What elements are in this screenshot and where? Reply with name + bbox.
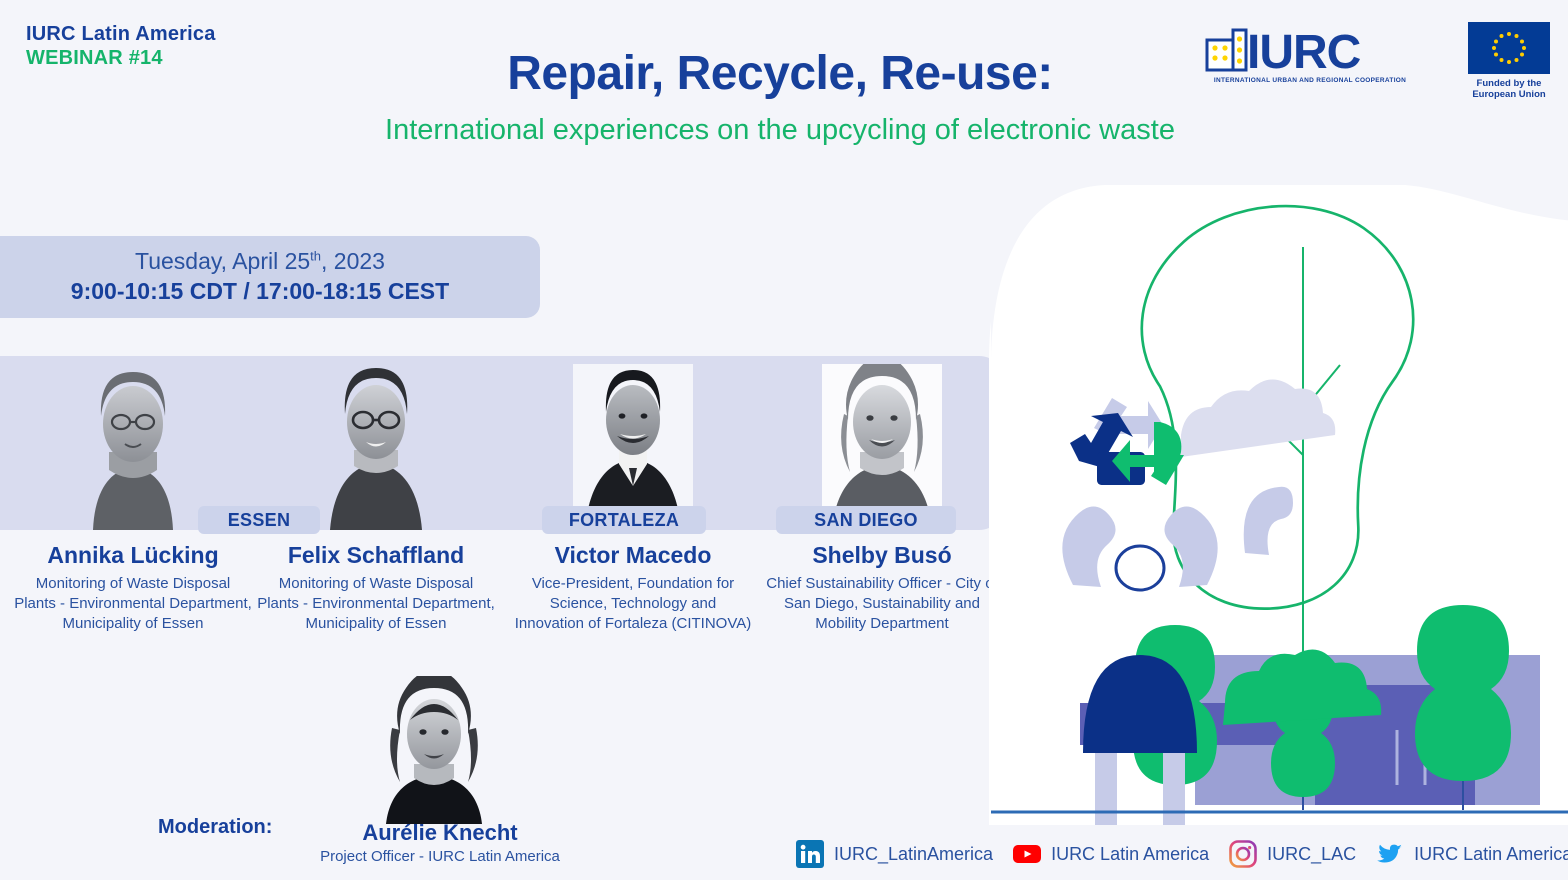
moderator-photo [370, 676, 498, 824]
city-badge-fortaleza: FORTALEZA [542, 506, 706, 534]
speaker-name: Shelby Busó [757, 542, 1007, 570]
moderation-block: Moderation: Aurélie Knecht Project Offic… [120, 676, 680, 876]
speaker-photo [316, 364, 436, 530]
speaker-name: Felix Schaffland [251, 542, 501, 570]
header-left-block: IURC Latin America WEBINAR #14 [26, 22, 216, 71]
moderation-label: Moderation: [158, 816, 272, 839]
eu-funding-caption: Funded by the European Union [1468, 78, 1550, 101]
webinar-number: WEBINAR #14 [26, 46, 216, 70]
webinar-times: 9:00-10:15 CDT / 17:00-18:15 CEST [71, 277, 449, 307]
page-subtitle: International experiences on the upcycli… [300, 113, 1260, 148]
social-handle: IURC Latin America [1414, 844, 1568, 865]
youtube-icon[interactable] [1013, 840, 1041, 868]
date-year: , 2023 [321, 248, 385, 274]
page-title: Repair, Recycle, Re-use: [300, 48, 1260, 101]
date-ordinal-suffix: th [310, 248, 321, 263]
social-link-instagram[interactable]: IURC_LAC [1229, 840, 1356, 868]
city-badge-san-diego: SAN DIEGO [776, 506, 956, 534]
iurc-logo: IURC INTERNATIONAL URBAN AND REGIONAL CO… [1205, 22, 1415, 84]
social-link-youtube[interactable]: IURC Latin America [1013, 840, 1209, 868]
speaker-role: Monitoring of Waste Disposal Plants - En… [8, 574, 258, 634]
date-text: Tuesday, April 25 [135, 248, 310, 274]
eu-caption-line-1: Funded by the [1468, 78, 1550, 89]
date-time-pill: Tuesday, April 25th, 2023 9:00-10:15 CDT… [0, 236, 540, 318]
moderator-role: Project Officer - IURC Latin America [280, 848, 600, 865]
city-badge-essen: ESSEN [198, 506, 320, 534]
social-link-linkedin[interactable]: IURC_LatinAmerica [796, 840, 993, 868]
social-link-twitter[interactable]: IURC Latin America [1376, 840, 1568, 868]
social-handle: IURC Latin America [1051, 844, 1209, 865]
speaker-photo [73, 364, 193, 530]
speaker-role: Vice-President, Foundation for Science, … [508, 574, 758, 634]
speaker-role: Chief Sustainability Officer - City of S… [757, 574, 1007, 634]
org-name: IURC Latin America [26, 22, 216, 46]
linkedin-icon[interactable] [796, 840, 824, 868]
moderator-name: Aurélie Knecht [300, 820, 580, 846]
social-handle: IURC_LAC [1267, 844, 1356, 865]
speaker-name: Victor Macedo [508, 542, 758, 570]
speaker-role: Monitoring of Waste Disposal Plants - En… [251, 574, 501, 634]
eu-flag-icon [1468, 22, 1550, 74]
webinar-date: Tuesday, April 25th, 2023 [135, 247, 385, 276]
social-links-bar: IURC_LatinAmerica IURC Latin America IUR… [796, 836, 1568, 872]
recycling-illustration [985, 185, 1568, 825]
svg-text:IURC: IURC [1247, 26, 1361, 74]
person-head [1116, 546, 1164, 590]
speaker-name: Annika Lücking [8, 542, 258, 570]
social-handle: IURC_LatinAmerica [834, 844, 993, 865]
title-block: Repair, Recycle, Re-use: International e… [300, 48, 1260, 148]
twitter-icon[interactable] [1376, 840, 1404, 868]
iurc-logo-mark: IURC [1205, 22, 1415, 74]
eu-funding-logo: Funded by the European Union [1468, 22, 1550, 101]
eu-caption-line-2: European Union [1468, 89, 1550, 100]
iurc-logo-tagline: INTERNATIONAL URBAN AND REGIONAL COOPERA… [1205, 77, 1415, 84]
instagram-icon[interactable] [1229, 840, 1257, 868]
